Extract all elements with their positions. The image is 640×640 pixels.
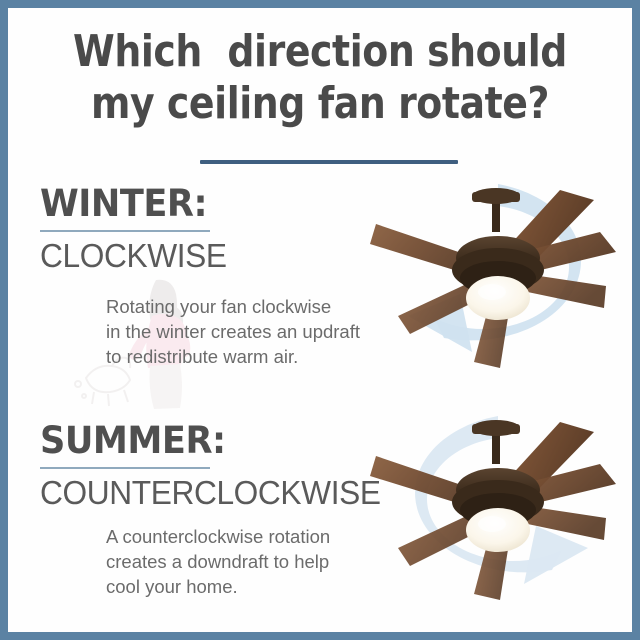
season-rule-winter	[40, 230, 210, 232]
title-line-1: Which direction should	[52, 26, 589, 78]
title-line-2: my ceiling fan rotate?	[52, 78, 589, 130]
fan-downrod	[472, 188, 520, 232]
fan-light-dome	[466, 276, 530, 320]
season-label-winter: WINTER:	[40, 184, 207, 224]
title-divider	[200, 160, 458, 164]
body-copy-winter: Rotating your fan clockwise in the winte…	[106, 294, 360, 369]
season-rule-summer	[40, 467, 210, 469]
fan-light-dome	[466, 508, 530, 552]
fan-art-summer	[348, 398, 632, 613]
direction-label-summer: COUNTERCLOCKWISE	[40, 475, 381, 511]
body-copy-summer: A counterclockwise rotation creates a do…	[106, 524, 330, 599]
fan-art-winter	[348, 166, 632, 381]
page-title: Which direction should my ceiling fan ro…	[8, 26, 632, 130]
infographic-canvas: Which direction should my ceiling fan ro…	[8, 8, 632, 632]
infographic-card: Which direction should my ceiling fan ro…	[0, 0, 640, 640]
season-label-summer: SUMMER:	[40, 421, 226, 461]
direction-label-winter: CLOCKWISE	[40, 238, 227, 274]
